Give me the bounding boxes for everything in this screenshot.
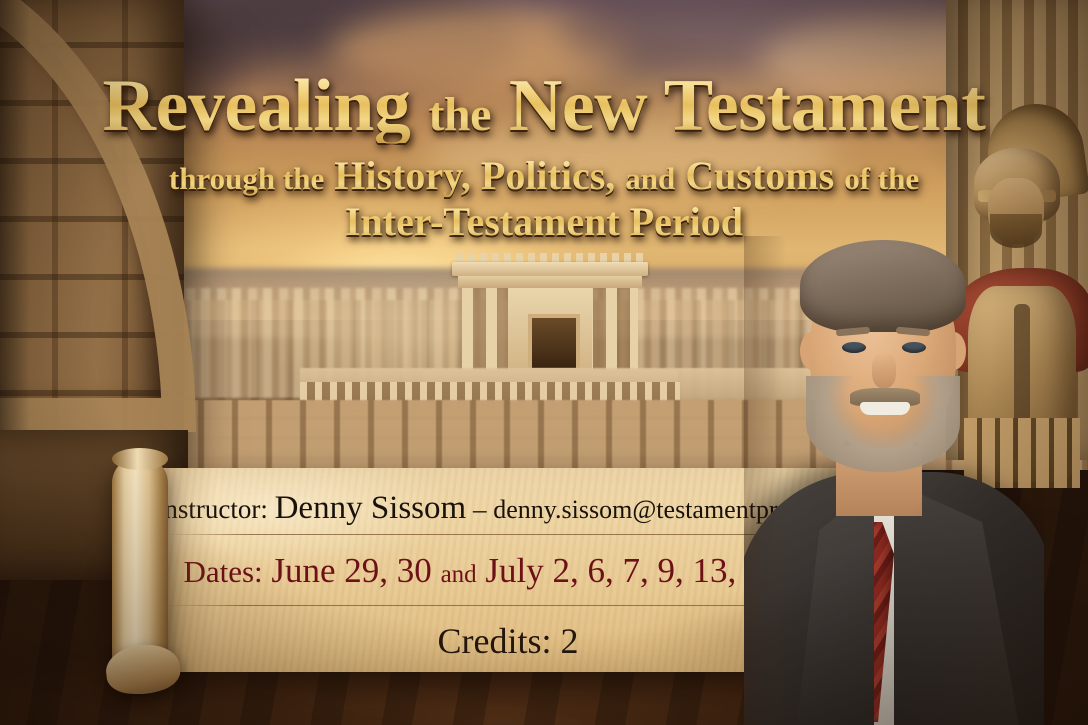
dates-conjunction: and bbox=[441, 561, 477, 588]
arch-shadow bbox=[0, 0, 30, 480]
nose bbox=[872, 352, 896, 388]
dates-june: June 29, 30 bbox=[271, 551, 431, 590]
temple-doorway bbox=[528, 314, 580, 368]
instructor-label: Instructor: bbox=[155, 494, 267, 524]
instructor-name: Denny Sissom bbox=[275, 490, 467, 526]
instructor-separator: – bbox=[473, 494, 487, 524]
temple-entablature bbox=[458, 276, 642, 288]
mouth bbox=[860, 402, 910, 415]
course-promo-poster: Revealing the New Testament through the … bbox=[0, 0, 1088, 725]
stone-arch-pillar bbox=[0, 0, 184, 490]
hair bbox=[800, 240, 966, 332]
dates-label: Dates: bbox=[183, 554, 262, 589]
cloud bbox=[420, 120, 840, 190]
scroll-roll-cap bbox=[112, 448, 168, 470]
credits-value: 2 bbox=[561, 621, 579, 661]
instructor-portrait bbox=[744, 236, 1044, 725]
temple-roof bbox=[452, 262, 648, 276]
eye-right bbox=[902, 342, 926, 353]
credits-label: Credits: bbox=[438, 621, 552, 661]
eye-left bbox=[842, 342, 866, 353]
